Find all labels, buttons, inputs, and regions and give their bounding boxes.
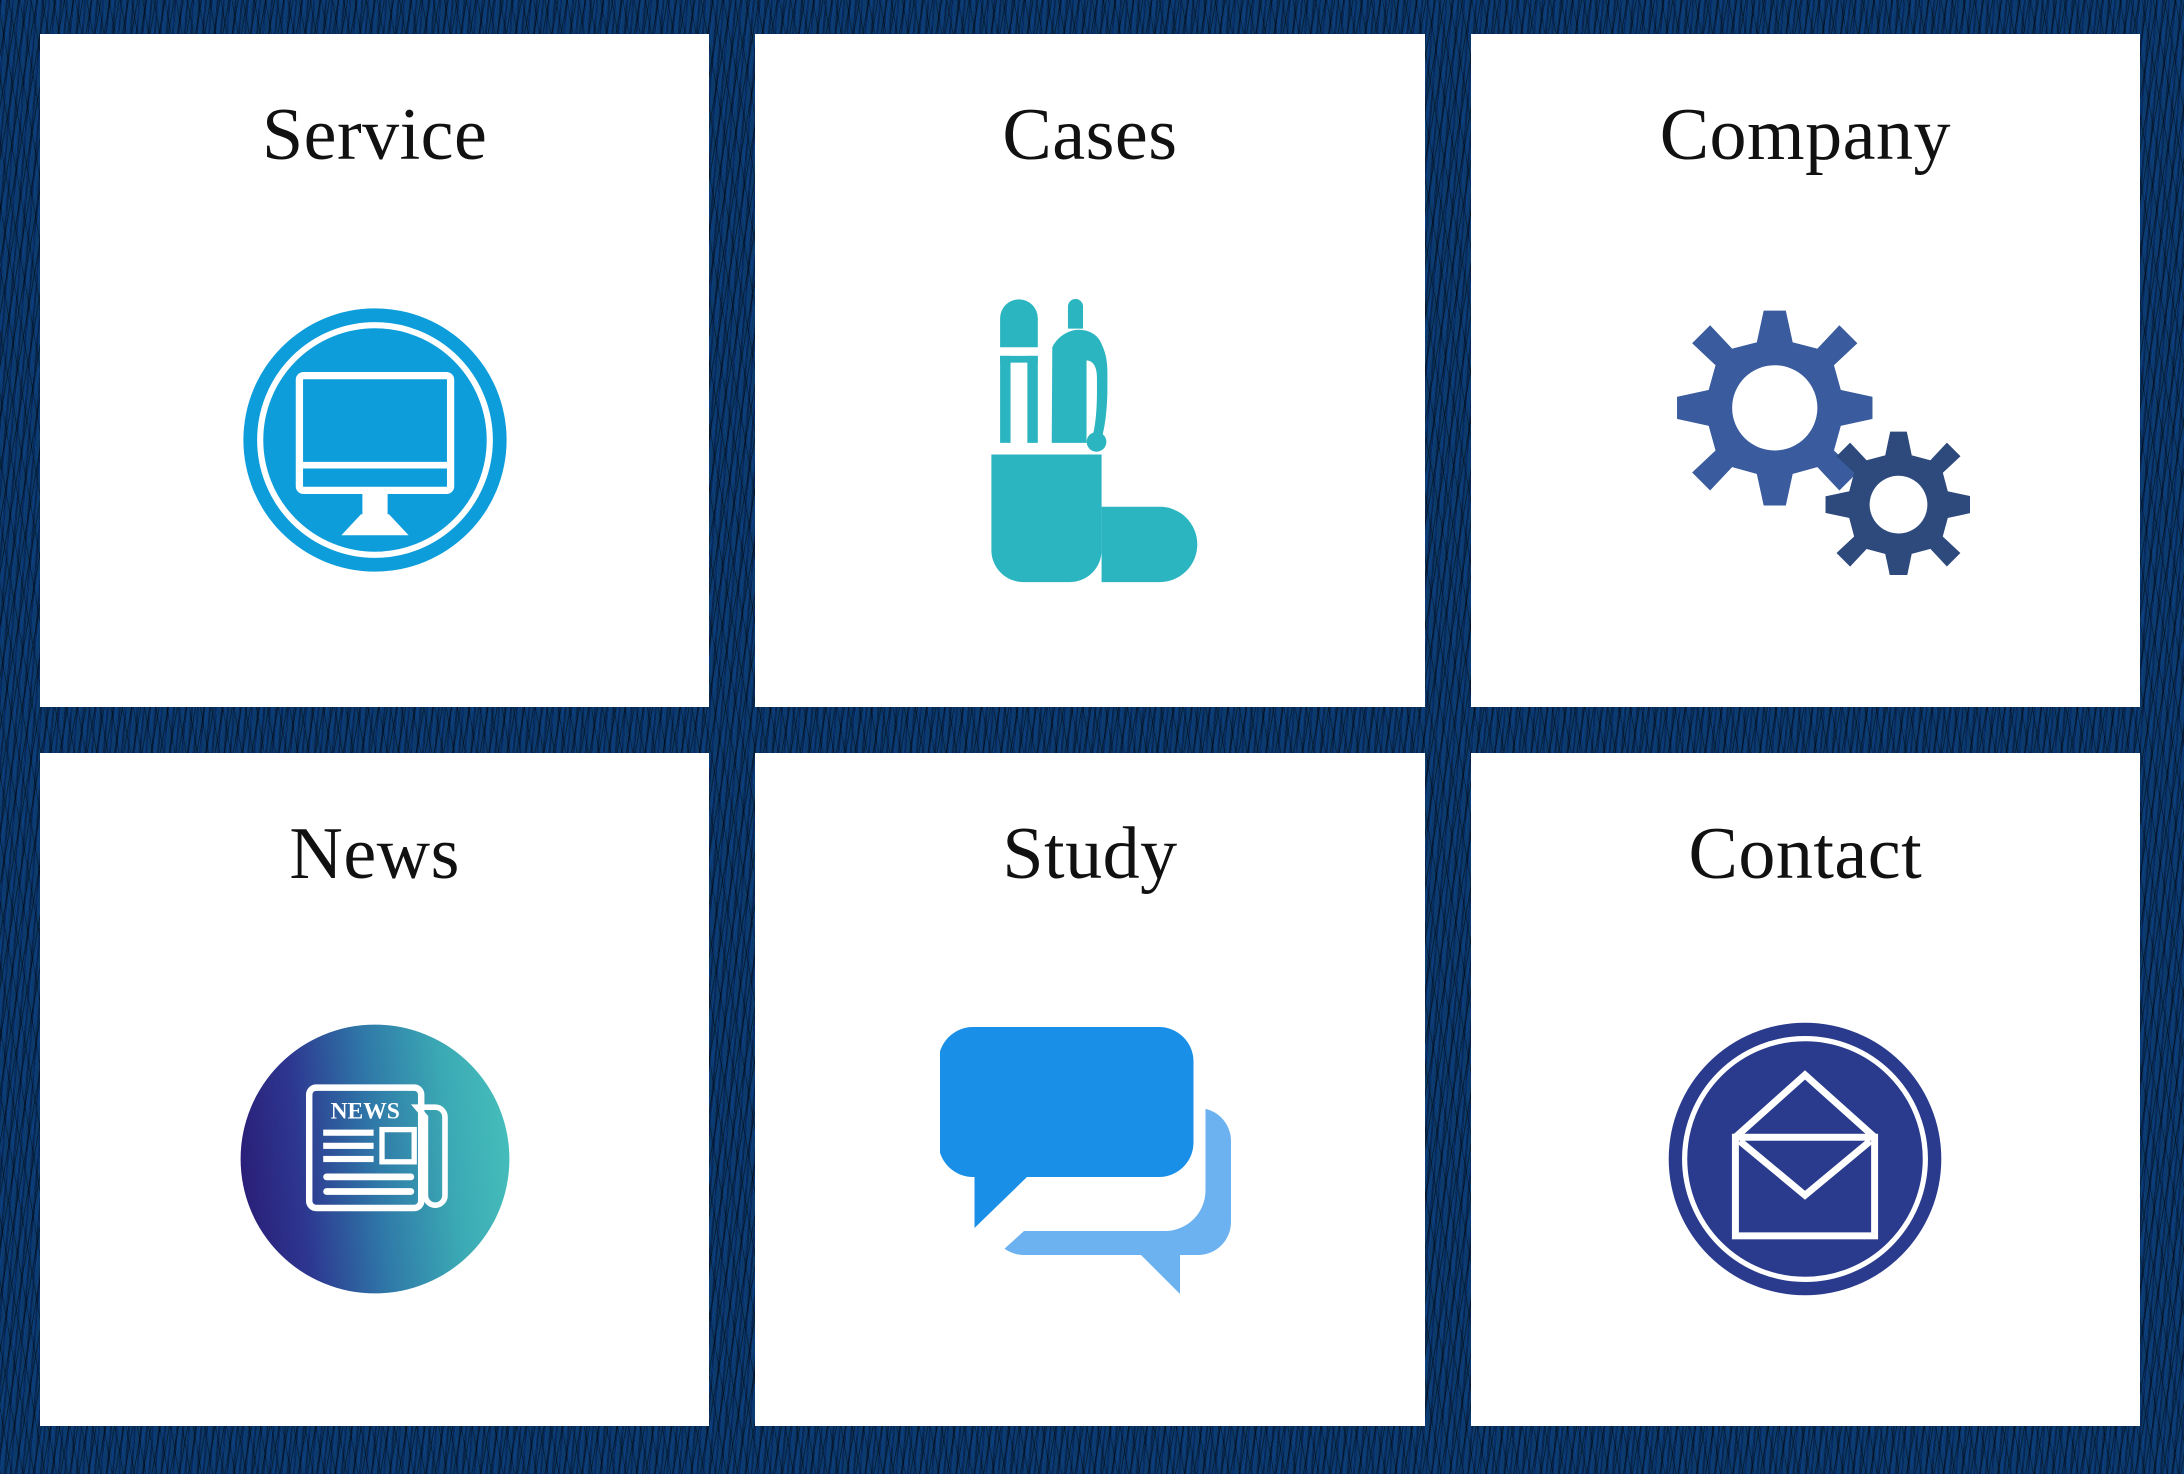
tile-icon-company — [1471, 172, 2140, 707]
pen-case-icon — [965, 295, 1215, 585]
tile-service[interactable]: Service — [40, 34, 709, 707]
small-gear — [1826, 431, 1970, 574]
tile-title-news: News — [289, 817, 460, 891]
tile-company[interactable]: Company — [1471, 34, 2140, 707]
tile-icon-cases — [755, 172, 1424, 707]
tile-icon-service — [40, 172, 709, 707]
tile-icon-study — [755, 891, 1424, 1426]
tile-title-company: Company — [1660, 98, 1951, 172]
monitor-in-circle-icon — [235, 300, 515, 580]
tile-icon-contact — [1471, 891, 2140, 1426]
news-masthead-text: NEWS — [330, 1098, 399, 1124]
tile-title-contact: Contact — [1688, 817, 1922, 891]
tile-title-service: Service — [262, 98, 487, 172]
tile-title-cases: Cases — [1002, 98, 1177, 172]
tile-icon-news: NEWS — [40, 891, 709, 1426]
tile-contact[interactable]: Contact — [1471, 753, 2140, 1426]
page-root: Service Cases — [0, 0, 2184, 1474]
gears-icon — [1640, 305, 1970, 575]
speech-bubbles-icon — [940, 1009, 1240, 1309]
envelope-in-circle-icon — [1660, 1014, 1950, 1304]
tile-study[interactable]: Study — [755, 753, 1424, 1426]
large-gear — [1677, 310, 1872, 505]
tile-news[interactable]: News — [40, 753, 709, 1426]
tile-title-study: Study — [1002, 817, 1177, 891]
tile-grid: Service Cases — [40, 34, 2140, 1426]
tile-cases[interactable]: Cases — [755, 34, 1424, 707]
newspaper-in-circle-icon: NEWS — [235, 1019, 515, 1299]
